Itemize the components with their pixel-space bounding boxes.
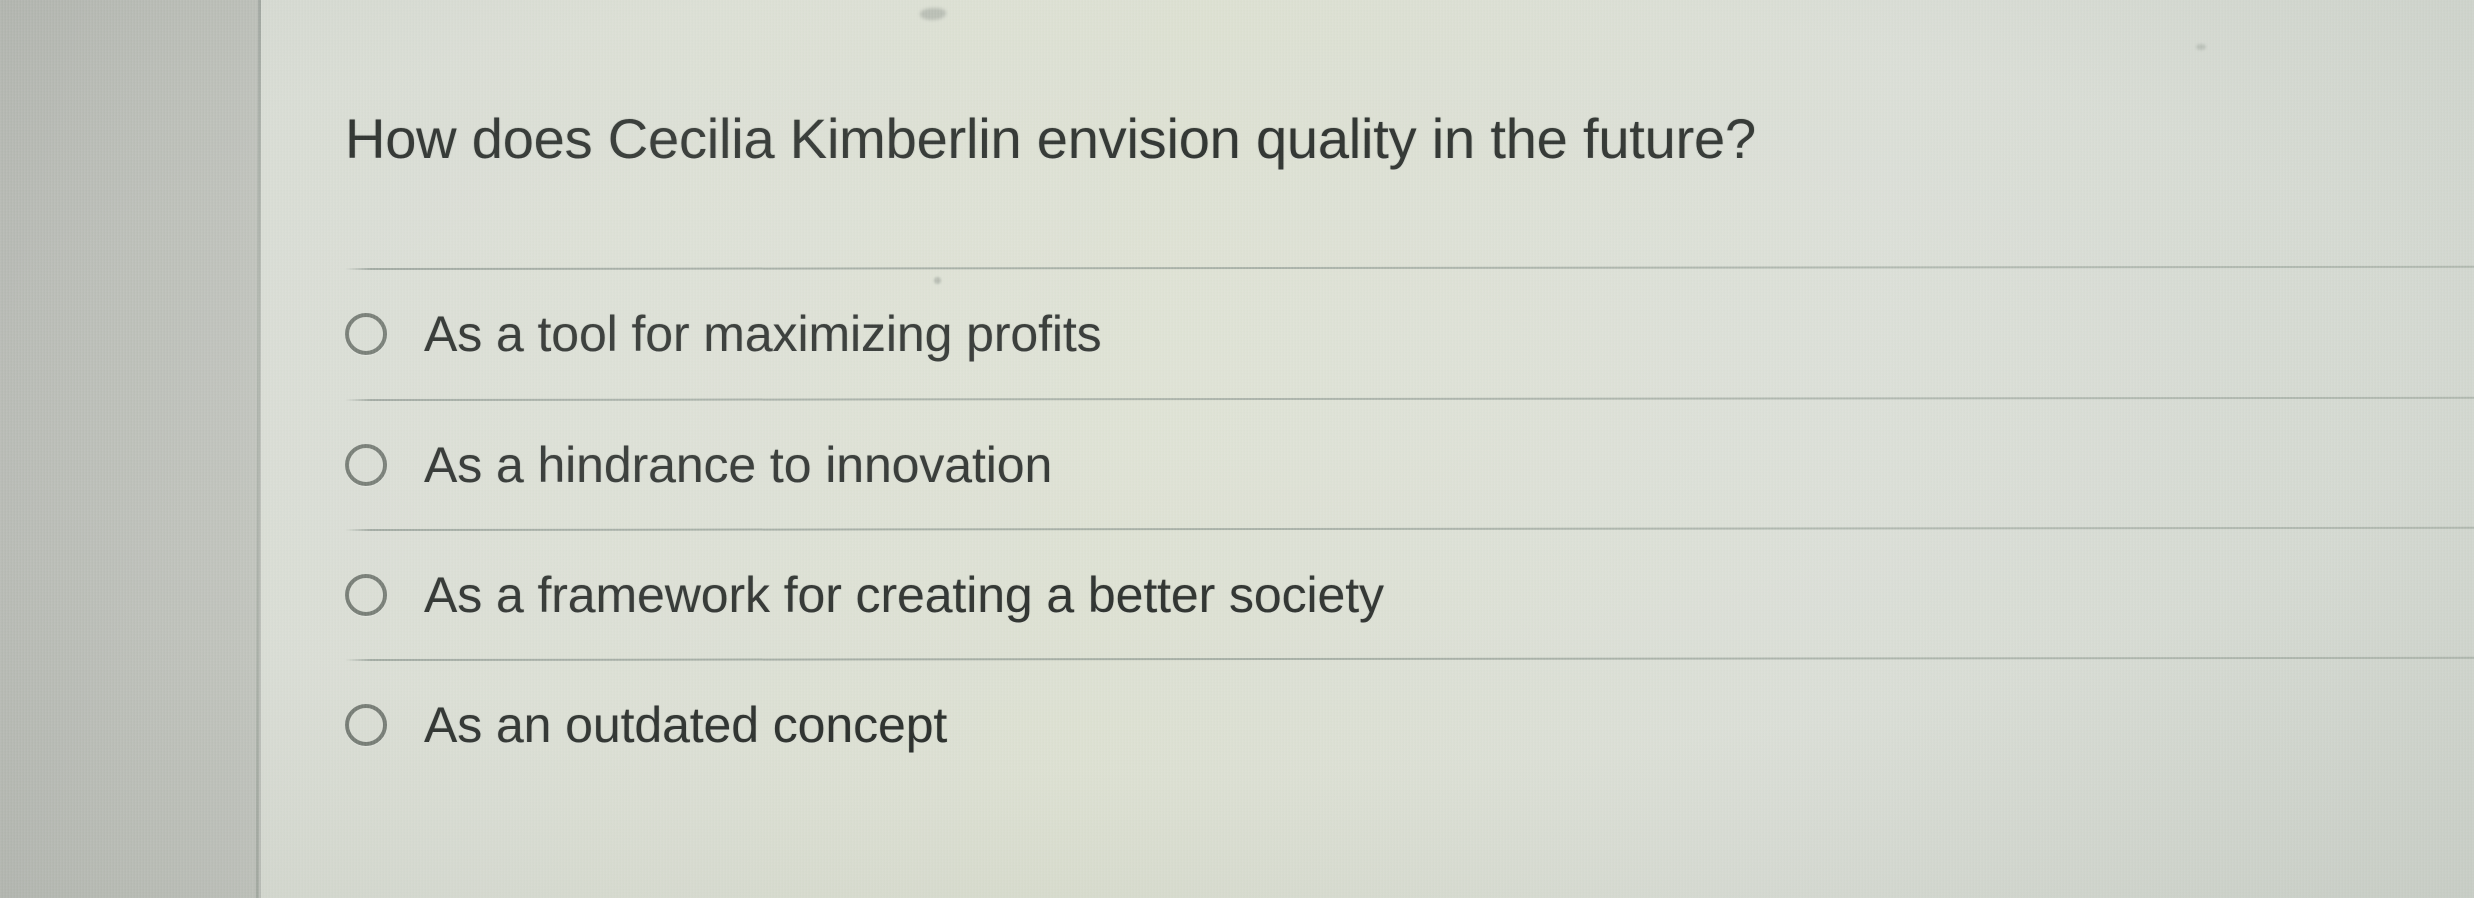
screen-dust-speck — [934, 277, 941, 284]
screen-dust-speck — [2196, 44, 2206, 50]
answer-option-label: As a hindrance to innovation — [424, 440, 1052, 490]
radio-unchecked-icon[interactable] — [345, 444, 387, 486]
answer-option-3[interactable]: As a framework for creating a better soc… — [0, 529, 2474, 660]
answer-option-4[interactable]: As an outdated concept — [0, 659, 2474, 790]
answer-option-label: As a tool for maximizing profits — [424, 309, 1102, 359]
answer-option-1[interactable]: As a tool for maximizing profits — [0, 268, 2474, 399]
question-title: How does Cecilia Kimberlin envision qual… — [345, 106, 2245, 172]
answer-option-label: As a framework for creating a better soc… — [424, 570, 1384, 620]
quiz-question-screenshot: How does Cecilia Kimberlin envision qual… — [0, 0, 2474, 898]
radio-unchecked-icon[interactable] — [345, 313, 387, 355]
answer-option-2[interactable]: As a hindrance to innovation — [0, 399, 2474, 530]
answer-option-label: As an outdated concept — [424, 700, 947, 750]
radio-unchecked-icon[interactable] — [345, 574, 387, 616]
radio-unchecked-icon[interactable] — [345, 704, 387, 746]
